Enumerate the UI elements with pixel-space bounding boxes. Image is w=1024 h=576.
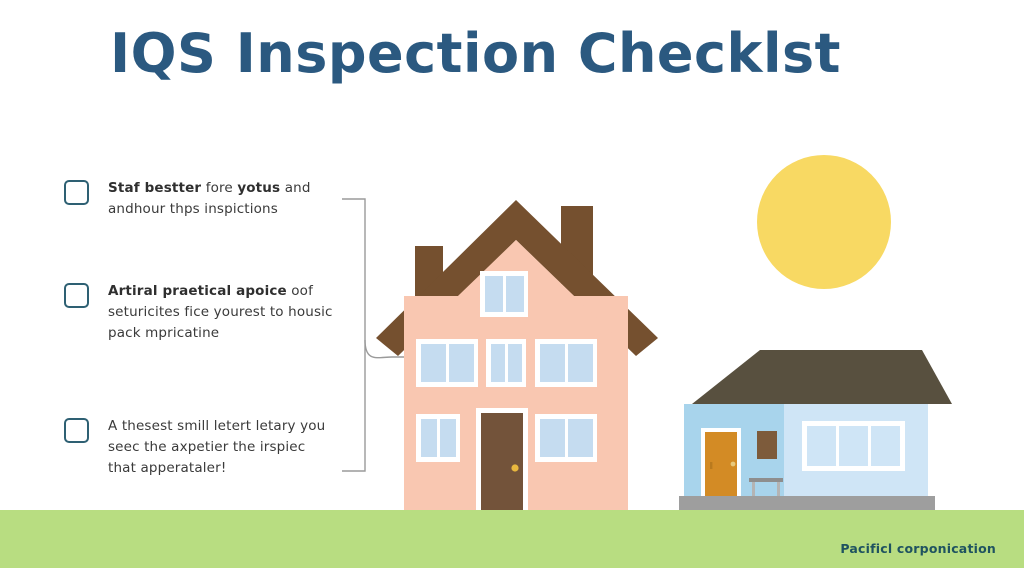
checklist-item-3-tail: A thesest smill letert letary you seec t… <box>108 418 325 476</box>
checklist-item-2-tail: seturicites fice yourest to housic pack … <box>108 304 333 341</box>
checklist-item-3-text: A thesest smill letert letary you seec t… <box>108 416 334 479</box>
checklist-item-2-text: Artiral praetical apoice oof seturicites… <box>108 281 334 344</box>
sun-icon <box>757 155 891 289</box>
list-item[interactable]: A thesest smill letert letary you seec t… <box>64 416 334 479</box>
list-item[interactable]: Artiral praetical apoice oof seturicites… <box>64 281 334 344</box>
checklist-item-2-bold: Artiral praetical apoice <box>108 283 287 299</box>
checkbox-item-2[interactable] <box>64 283 89 308</box>
two-story-house-illustration <box>368 196 668 512</box>
checklist-item-1-bold: Staf bestter <box>108 180 201 196</box>
checklist-item-1-mid: fore <box>201 180 237 196</box>
footer-note: Pacificl corponication <box>840 541 996 556</box>
checklist-item-2-mid: oof <box>287 283 313 299</box>
checkbox-item-3[interactable] <box>64 418 89 443</box>
slide-canvas: IQS Inspection Checklst Staf bestter for… <box>0 0 1024 576</box>
grass-band <box>0 510 1024 568</box>
page-title: IQS Inspection Checklst <box>110 22 841 85</box>
checklist-item-1-bold2: yotus <box>237 180 280 196</box>
checklist-item-1-text: Staf bestter fore yotus and andhour thps… <box>108 178 334 220</box>
bungalow-house-illustration <box>664 336 956 512</box>
checkbox-item-1[interactable] <box>64 180 89 205</box>
list-item[interactable]: Staf bestter fore yotus and andhour thps… <box>64 178 334 220</box>
